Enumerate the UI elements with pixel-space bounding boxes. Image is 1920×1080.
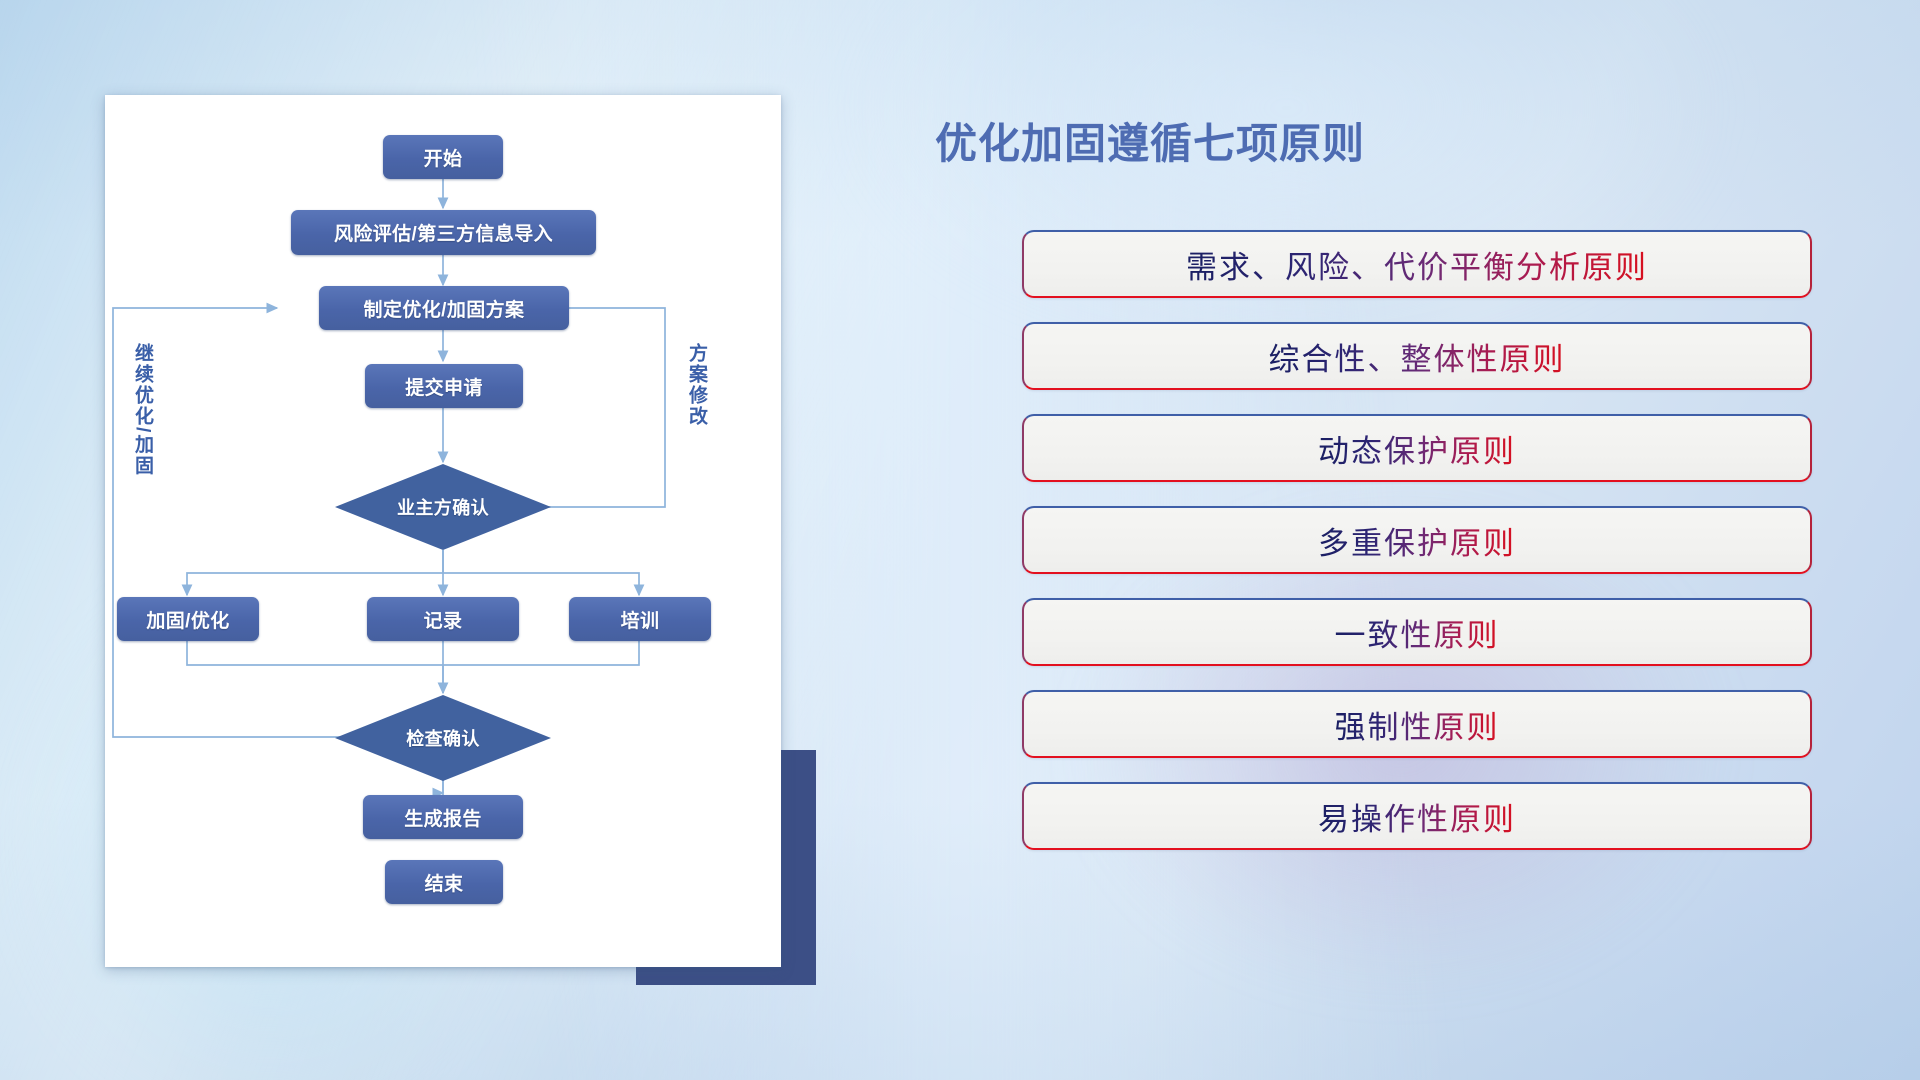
flowchart-document: 开始 风险评估/第三方信息导入 制定优化/加固方案 提交申请 业主方确认 加固/… <box>105 95 781 967</box>
principle-card-7-label: 易操作性原则 <box>1318 794 1516 839</box>
flow-node-record-label: 记录 <box>424 606 463 633</box>
flow-node-owner-confirm-label: 业主方确认 <box>397 494 489 520</box>
flow-edge-label-plan-revision-text: 方案修改 <box>686 343 707 427</box>
principle-card-6-label: 强制性原则 <box>1335 702 1500 747</box>
flow-node-owner-confirm[interactable]: 业主方确认 <box>335 464 551 550</box>
principle-card-3[interactable]: 动态保护原则 <box>1022 414 1812 482</box>
flow-node-end[interactable]: 结束 <box>385 860 503 904</box>
flow-node-risk-assessment[interactable]: 风险评估/第三方信息导入 <box>291 210 596 255</box>
flow-node-training-label: 培训 <box>621 606 660 633</box>
flow-node-start-label: 开始 <box>424 144 463 171</box>
principle-card-2-label: 综合性、整体性原则 <box>1269 334 1566 379</box>
principle-card-5[interactable]: 一致性原则 <box>1022 598 1812 666</box>
principle-card-1-label: 需求、风险、代价平衡分析原则 <box>1186 242 1648 287</box>
flow-node-check-confirm-label: 检查确认 <box>406 725 480 751</box>
flow-node-record[interactable]: 记录 <box>367 597 519 641</box>
flow-node-plan-label: 制定优化/加固方案 <box>364 295 525 322</box>
flow-edge-label-plan-revision: 方案修改 <box>683 343 710 427</box>
flow-node-plan[interactable]: 制定优化/加固方案 <box>319 286 569 330</box>
principle-card-7[interactable]: 易操作性原则 <box>1022 782 1812 850</box>
flow-node-risk-assessment-label: 风险评估/第三方信息导入 <box>334 219 553 246</box>
flow-node-submit[interactable]: 提交申请 <box>365 364 523 408</box>
page-title: 优化加固遵循七项原则 <box>935 110 1365 171</box>
flow-node-training[interactable]: 培训 <box>569 597 711 641</box>
principle-card-1[interactable]: 需求、风险、代价平衡分析原则 <box>1022 230 1812 298</box>
flow-node-submit-label: 提交申请 <box>405 373 483 400</box>
flow-edge-label-continue-optimize-text: 继续优化/加固 <box>132 343 153 476</box>
principle-card-3-label: 动态保护原则 <box>1318 426 1516 471</box>
principle-card-4-label: 多重保护原则 <box>1318 518 1516 563</box>
principle-card-2[interactable]: 综合性、整体性原则 <box>1022 322 1812 390</box>
flow-node-start[interactable]: 开始 <box>383 135 503 179</box>
flow-node-report[interactable]: 生成报告 <box>363 795 523 839</box>
principle-card-6[interactable]: 强制性原则 <box>1022 690 1812 758</box>
flowchart-canvas: 开始 风险评估/第三方信息导入 制定优化/加固方案 提交申请 业主方确认 加固/… <box>105 95 781 967</box>
flow-node-reinforce-label: 加固/优化 <box>146 606 229 633</box>
principles-list: 需求、风险、代价平衡分析原则 综合性、整体性原则 动态保护原则 多重保护原则 一… <box>1022 230 1812 850</box>
flow-node-check-confirm[interactable]: 检查确认 <box>335 695 551 781</box>
flow-node-reinforce[interactable]: 加固/优化 <box>117 597 259 641</box>
principle-card-4[interactable]: 多重保护原则 <box>1022 506 1812 574</box>
principle-card-5-label: 一致性原则 <box>1335 610 1500 655</box>
flow-node-report-label: 生成报告 <box>404 804 482 831</box>
flow-node-end-label: 结束 <box>425 869 464 896</box>
flow-edge-label-continue-optimize: 继续优化/加固 <box>129 343 156 476</box>
